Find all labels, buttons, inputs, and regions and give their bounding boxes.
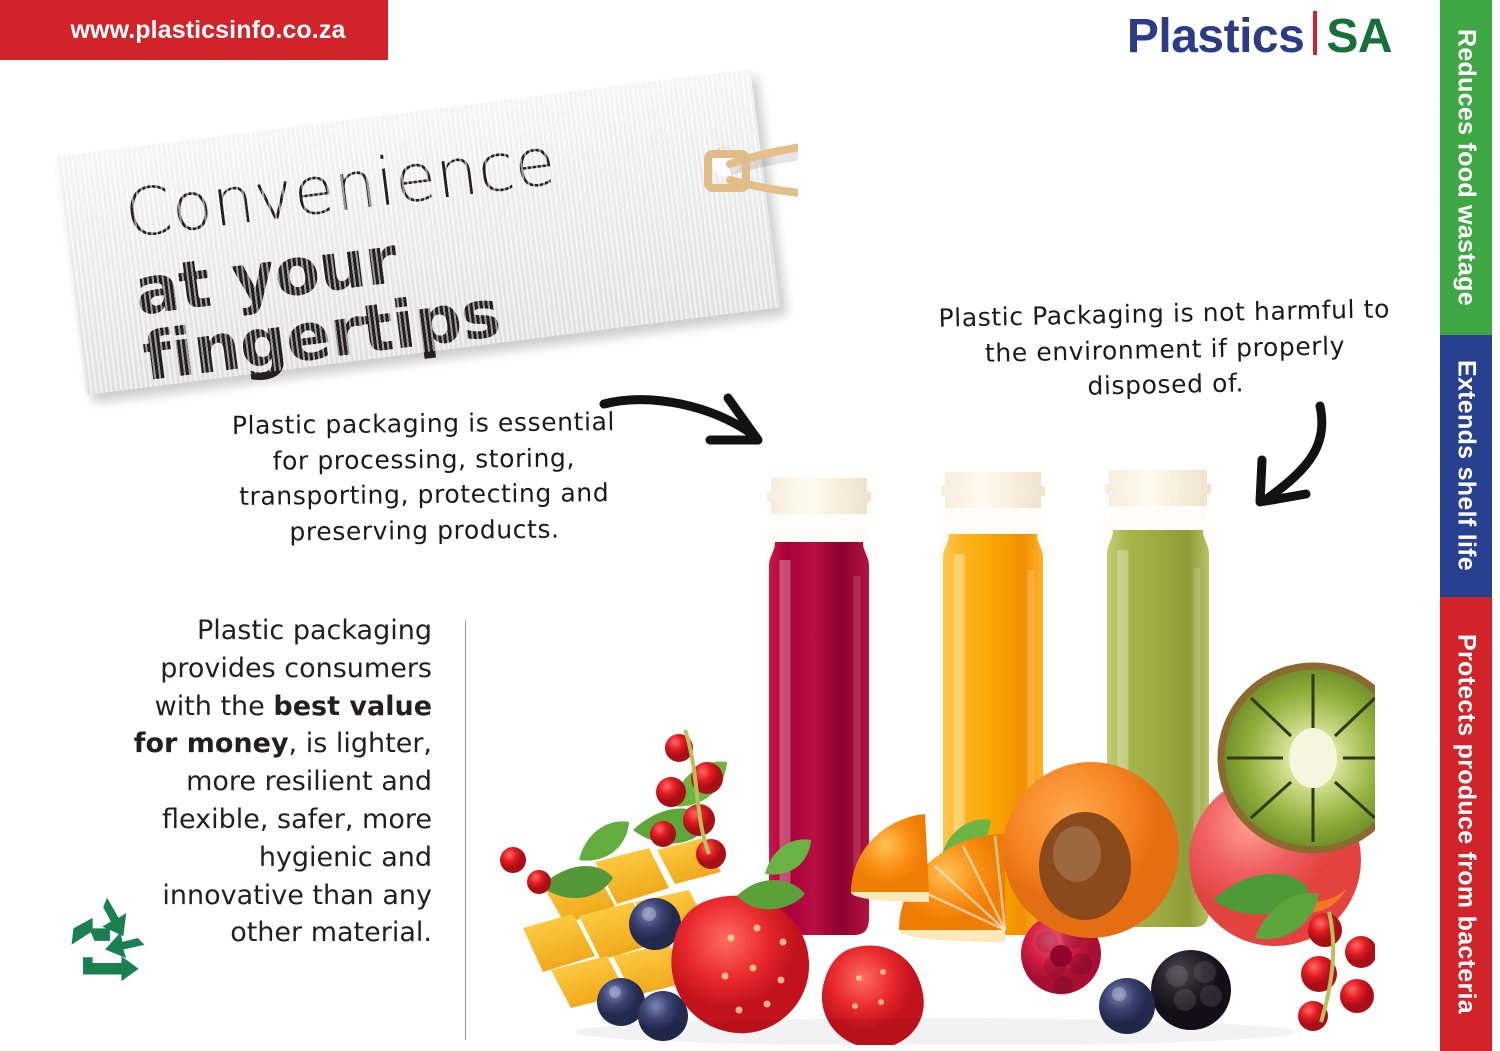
body-part-2: , is lighter, more resilient and flexibl… [162,728,432,948]
hang-tag: Convenience at your fingertips [58,72,798,392]
logo-separator-bar [1313,11,1317,55]
infographic-poster: www.plasticsinfo.co.za Plastics SA Conve… [0,0,1500,1051]
benefits-sidebar: Reduces food wastage Extends shelf life … [1440,0,1492,1051]
sidebar-band-reduces-food-wastage: Reduces food wastage [1440,0,1492,335]
callout-text-right: Plastic Packaging is not harmful to the … [929,291,1401,407]
website-url-banner: www.plasticsinfo.co.za [0,0,388,60]
vertical-divider [465,620,466,1040]
plastics-sa-logo: Plastics SA [1127,8,1392,61]
sidebar-band-label-1: Reduces food wastage [1452,29,1481,306]
recycling-symbol-icon [60,890,156,986]
body-paragraph: Plastic packaging provides consumers wit… [120,612,432,952]
logo-primary-text: Plastics [1127,13,1304,61]
juice-bottles-and-fruit-photo [495,430,1375,1045]
sidebar-band-protects-produce: Protects produce from bacteria [1440,597,1492,1051]
website-url-text: www.plasticsinfo.co.za [71,16,346,45]
hang-tag-eyelet-icon [708,145,742,179]
sidebar-band-extends-shelf-life: Extends shelf life [1440,335,1492,597]
logo-secondary-text: SA [1326,13,1392,61]
sidebar-band-label-2: Extends shelf life [1452,360,1481,571]
sidebar-band-label-3: Protects produce from bacteria [1452,634,1481,1014]
kiwi-slice [1221,666,1375,850]
hang-tag-card: Convenience at your fingertips [56,69,781,395]
apricot-half [1003,762,1179,938]
red-currants-right [1298,912,1375,1031]
hang-tag-text: Convenience at your fingertips [121,112,711,392]
